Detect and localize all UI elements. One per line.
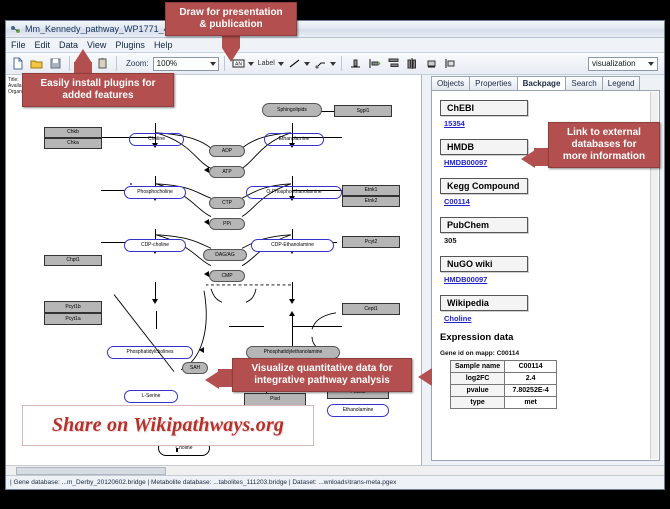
arrow-icon (289, 299, 295, 304)
node-label: Phosphatidylethanolamine (264, 350, 323, 355)
callout-pointer-expression (418, 368, 432, 386)
nugo-wiki-link[interactable]: HMDB00097 (444, 275, 651, 284)
node-label: DAG/AG (215, 253, 234, 258)
metabolite-node[interactable]: CDP-Ethanolamine (251, 239, 334, 252)
gene-id-line: Gene id on mapp: C00114 (440, 350, 651, 357)
node-label: Ethanolamine (279, 137, 310, 142)
table-row: type met (451, 397, 557, 409)
visualization-combobox[interactable]: visualization (588, 57, 658, 71)
node-label: CDP-choline (141, 243, 169, 248)
chevron-down-icon[interactable] (304, 62, 310, 66)
paste-icon[interactable] (94, 55, 111, 72)
canvas-meta-organism: Organi (8, 89, 23, 95)
callout-line: integrative pathway analysis (241, 375, 403, 387)
menu-edit[interactable]: Edit (35, 40, 51, 50)
node-label: Pisd (270, 397, 280, 402)
wikipedia-link[interactable]: Choline (444, 314, 651, 323)
scrollbar-thumb[interactable] (16, 467, 166, 475)
callout-line: Link to external (557, 127, 651, 139)
table-row: pvalue 7.80252E-4 (451, 385, 557, 397)
table-cell-key: type (451, 397, 505, 409)
cofactor-node[interactable]: ADP (209, 145, 245, 157)
arrow-icon (204, 167, 209, 173)
metabolite-node[interactable]: Ethanolamine (264, 133, 324, 146)
callout-pointer-up (74, 49, 92, 63)
tab-search[interactable]: Search (565, 76, 602, 90)
chevron-down-icon[interactable] (278, 62, 284, 66)
node-label: PPi (223, 222, 231, 227)
table-cell-key: log2FC (451, 373, 505, 385)
share-banner-text: Share on Wikipathways.org (52, 414, 284, 437)
cofactor-node[interactable]: ATP (209, 166, 245, 178)
callout-draw: Draw for presentation & publication (165, 2, 297, 36)
resize-handle[interactable] (209, 446, 210, 450)
toolbar-separator (116, 56, 117, 71)
backpage-section-header: NuGO wiki (440, 256, 528, 272)
node-label: Chka (67, 141, 79, 146)
metabolite-node[interactable]: Phosphocholine (124, 186, 186, 199)
svg-text:AN: AN (235, 62, 242, 68)
node-label: Choline (148, 137, 165, 142)
arrow-icon (199, 347, 204, 353)
gene-node[interactable]: Pcyt1a (44, 313, 102, 325)
table-cell-value: C00114 (505, 361, 557, 373)
node-label: Etnk1 (365, 188, 378, 193)
cofactor-node[interactable]: PPi (209, 218, 245, 230)
callout-plugins: Easily install plugins for added feature… (22, 73, 174, 107)
gene-node[interactable]: Pcyt2 (342, 236, 400, 248)
tab-backpage[interactable]: Backpage (517, 76, 567, 90)
node-label: Pcyt1b (65, 305, 80, 310)
visualization-value: visualization (592, 59, 636, 68)
callout-line: Draw for presentation (174, 7, 288, 19)
edge (156, 311, 157, 329)
line-icon[interactable] (286, 55, 303, 72)
cofactor-node[interactable]: CTP (209, 197, 245, 209)
backpage-section-header: Kegg Compound (440, 178, 528, 194)
toolbar: Zoom: 100% AN Label (6, 53, 664, 75)
label-tool[interactable]: Label (256, 60, 284, 67)
table-row: Sample name C00114 (451, 361, 557, 373)
distribute-horizontal-icon[interactable] (404, 55, 421, 72)
anchor-line-icon[interactable] (312, 55, 329, 72)
open-folder-icon[interactable] (28, 55, 45, 72)
node-label: Pcyt1a (65, 317, 80, 322)
stack-icon[interactable] (423, 55, 440, 72)
spacer (130, 183, 132, 185)
align-top-icon[interactable] (347, 55, 364, 72)
align-left-icon[interactable] (366, 55, 383, 72)
metabolite-node[interactable]: Ethanolamine (327, 404, 389, 417)
backpage-section-header: Wikipedia (440, 295, 528, 311)
expression-table: Sample name C00114 log2FC 2.4 pvalue 7.8… (450, 360, 557, 409)
cofactor-node[interactable]: DAG/AG (203, 249, 247, 261)
node-label: O-Phosphoethanolamine (266, 190, 321, 195)
status-bar: | Gene database: ...m_Derby_20120602.bri… (6, 475, 664, 489)
resize-handle[interactable] (209, 455, 210, 456)
resize-handle[interactable] (182, 455, 186, 456)
node-label: Phosphocholine (137, 190, 173, 195)
table-cell-value: met (505, 397, 557, 409)
metabolite-node[interactable]: CDP-choline (124, 239, 186, 252)
chevron-down-icon (648, 62, 654, 66)
save-icon[interactable] (47, 55, 64, 72)
tab-objects[interactable]: Objects (431, 76, 470, 90)
resize-handle[interactable] (158, 455, 159, 456)
canvas-metadata: Title: Availa Organi (8, 77, 23, 95)
tab-legend[interactable]: Legend (602, 76, 641, 90)
title-bar: Mm_Kennedy_pathway_WP1771_45176.gpml (6, 21, 664, 38)
node-label: Choline (176, 446, 193, 451)
node-label: L-Serine (142, 394, 161, 399)
chevron-down-icon[interactable] (330, 62, 336, 66)
kegg-compound-link[interactable]: C00114 (444, 197, 651, 206)
resize-handle[interactable] (158, 446, 159, 450)
zoom-label: Zoom: (126, 59, 149, 68)
metabolite-node[interactable]: L-Serine (124, 390, 178, 403)
node-label: Phosphatidylcholines (127, 350, 174, 355)
gene-node[interactable]: Sgpl1 (334, 105, 392, 117)
table-cell-value: 2.4 (505, 373, 557, 385)
side-panel-tabs: Objects Properties Backpage Search Legen… (422, 75, 664, 90)
callout-line: Visualize quantitative data for (241, 363, 403, 375)
zoom-value: 100% (157, 59, 177, 68)
metabolite-node[interactable]: Choline (129, 133, 184, 146)
gene-node[interactable]: Chkb (44, 127, 102, 138)
node-label: ATP (222, 170, 231, 175)
node-label: ADP (222, 149, 232, 154)
anchor-line-tool[interactable] (312, 55, 336, 72)
chevron-down-icon[interactable] (248, 62, 254, 66)
gene-node[interactable]: Etnk2 (342, 196, 400, 207)
tab-properties[interactable]: Properties (469, 76, 517, 90)
gene-node[interactable]: Chpt1 (44, 255, 102, 266)
node-label: Chpt1 (66, 258, 79, 263)
node-label: CMP (221, 274, 232, 279)
edge (229, 326, 264, 327)
node-label: SAH (190, 366, 200, 371)
callout-pointer-down (222, 48, 240, 62)
node-label: Sphingolipids (277, 108, 307, 113)
status-bar-text: | Gene database: ...m_Derby_20120602.bri… (10, 479, 396, 486)
callout-line: databases for (557, 139, 651, 151)
node-label: Chkb (67, 130, 79, 135)
callout-line: Easily install plugins for (31, 78, 165, 90)
menu-file[interactable]: File (11, 40, 26, 50)
table-row: log2FC 2.4 (451, 373, 557, 385)
metabolite-node[interactable]: Phosphatidylcholines (107, 346, 193, 359)
cofactor-node[interactable]: CMP (209, 270, 245, 282)
callout-line: more information (557, 151, 651, 163)
menu-help[interactable]: Help (154, 40, 173, 50)
node-label: Pcyt2 (365, 240, 378, 245)
backpage-section-header: HMDB (440, 139, 528, 155)
size-icon[interactable] (442, 55, 459, 72)
menu-plugins[interactable]: Plugins (115, 40, 145, 50)
gene-node[interactable]: Pcyt1b (44, 301, 102, 313)
edge (292, 326, 342, 327)
pathway-canvas[interactable]: Title: Availa Organi (6, 75, 422, 465)
node-label: Sgpl1 (357, 109, 370, 114)
pubchem-value: 305 (444, 236, 651, 245)
distribute-vertical-icon[interactable] (385, 55, 402, 72)
gene-node[interactable]: Cept1 (342, 303, 400, 315)
arrow-icon (289, 311, 295, 316)
toolbar-separator (341, 56, 342, 71)
node-label: CDP-Ethanolamine (271, 243, 314, 248)
callout-line: & publication (174, 19, 288, 31)
pathvisio-icon (10, 24, 21, 35)
expression-data-heading: Expression data (440, 332, 651, 343)
node-label: Ethanolamine (343, 408, 374, 413)
node-label: Cept1 (364, 307, 377, 312)
backpage-section-header: PubChem (440, 217, 528, 233)
share-banner: Share on Wikipathways.org (22, 405, 314, 446)
table-cell-key: pvalue (451, 385, 505, 397)
backpage-section-header: ChEBI (440, 100, 528, 116)
callout-visualize: Visualize quantitative data for integrat… (232, 358, 412, 392)
gene-node[interactable]: Chka (44, 138, 102, 149)
line-tool[interactable] (286, 55, 310, 72)
new-file-icon[interactable] (9, 55, 26, 72)
gene-node[interactable]: Etnk1 (342, 185, 400, 196)
arrow-icon (204, 271, 209, 277)
metabolite-node[interactable]: O-Phosphoethanolamine (246, 186, 342, 199)
zoom-combobox[interactable]: 100% (153, 57, 219, 71)
node-label: CTP (222, 201, 232, 206)
chevron-down-icon (210, 62, 216, 66)
node-label: Etnk2 (365, 199, 378, 204)
metabolite-node[interactable]: Sphingolipids (262, 103, 322, 117)
callout-line: added features (31, 90, 165, 102)
table-cell-key: Sample name (451, 361, 505, 373)
table-cell-value: 7.80252E-4 (505, 385, 557, 397)
label-button[interactable]: Label (256, 60, 277, 67)
menu-bar: File Edit Data View Plugins Help (6, 38, 664, 53)
horizontal-scrollbar[interactable] (6, 465, 664, 475)
arrow-icon (152, 299, 158, 304)
arrow-icon (204, 219, 209, 225)
callout-pointer-left (521, 150, 535, 168)
callout-pointer-left (205, 371, 219, 389)
toolbar-separator (69, 56, 70, 71)
callout-links: Link to external databases for more info… (548, 122, 660, 168)
